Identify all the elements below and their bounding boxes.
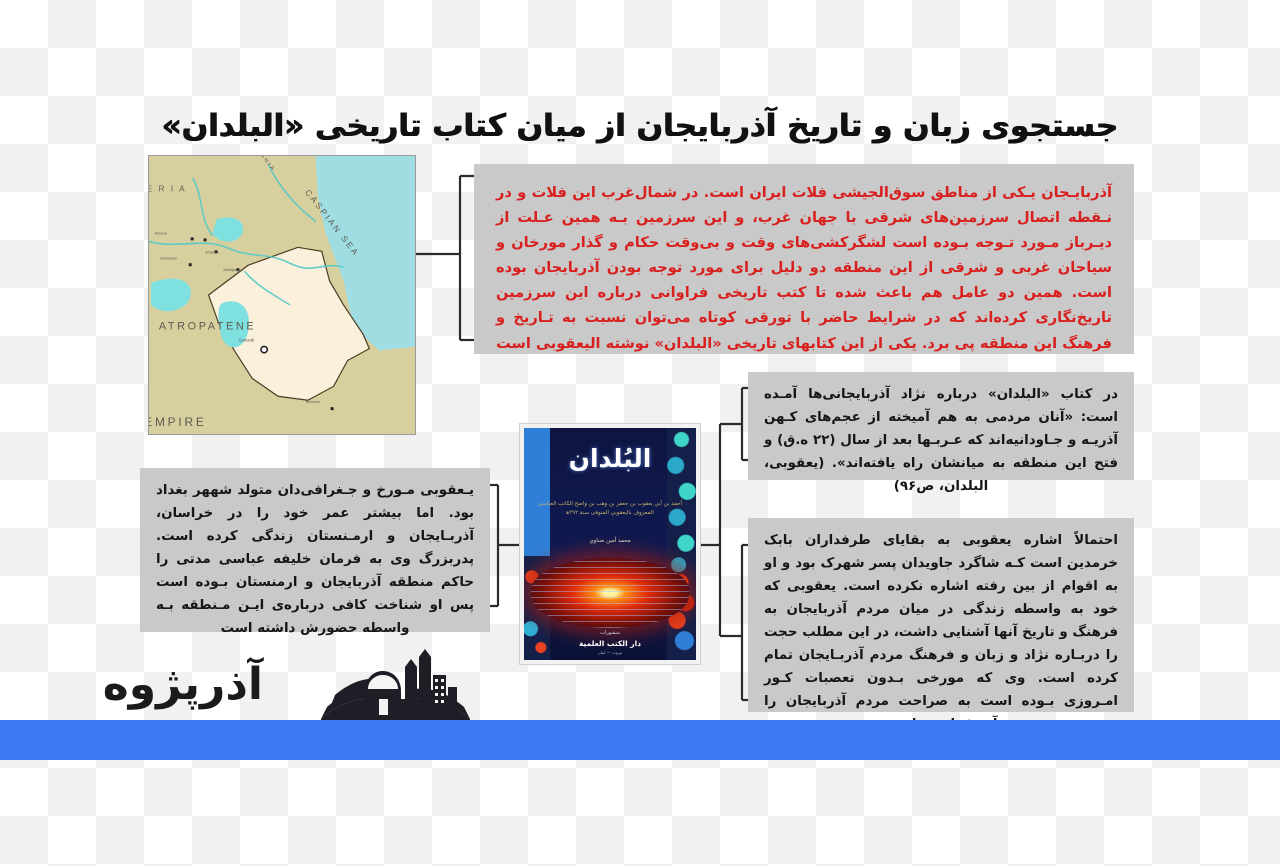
map-label-artaxata: Artaxata: [205, 250, 218, 254]
book-publisher-sub: بيروت — لبنان: [534, 650, 685, 655]
city-dot-behistun: [331, 407, 334, 410]
intro-paragraph-text: آذربایـجان یـکی از مناطق سوق‌الجیشی فلات…: [496, 184, 1112, 352]
map-label-zarehavan: Zarehavan: [160, 256, 177, 260]
bottom-accent-bar: [0, 720, 1280, 760]
buldan-quote-text: در کتاب «البلدان» درباره نژاد آذربایجانی…: [764, 387, 1118, 494]
book-editor-line: محمد أمين ضناوي: [534, 537, 685, 546]
city-dot-ganzak: [261, 346, 267, 352]
book-globe-grid: [531, 558, 689, 628]
intro-paragraph-card: آذربایـجان یـکی از مناطق سوق‌الجیشی فلات…: [474, 164, 1134, 354]
lake-sevan: [213, 218, 244, 242]
city-dot-armavir: [191, 237, 194, 240]
yaqubi-analysis-text: احتمالاً اشاره یعقوبی به بقایای طرفداران…: [764, 533, 1118, 732]
book-author-line: أحمد بن أبي يعقوب بن جعفر بن وهب بن واضح…: [534, 500, 685, 519]
map-label-atropatene: ATROPATENE: [159, 321, 256, 333]
book-title: البُلدان: [524, 444, 696, 473]
map-label-seleucid-empire: SELEUCID EMPIRE: [149, 415, 207, 429]
book-publisher: دار الكتب العلمية: [534, 637, 685, 651]
yaqubi-analysis-card: احتمالاً اشاره یعقوبی به بقایای طرفداران…: [748, 518, 1134, 712]
map-label-ganzak: Ganzak: [239, 338, 255, 343]
page-title: جستجوی زبان و تاریخ آذربایجان از میان کت…: [0, 107, 1280, 146]
buldan-quote-card: در کتاب «البلدان» درباره نژاد آذربایجانی…: [748, 372, 1134, 480]
book-imprint-line: منشورات: [534, 629, 685, 637]
map-label-nakhjavan: Nakhjavan: [223, 268, 240, 272]
al-buldan-book-cover: البُلدان أحمد بن أبي يعقوب بن جعفر بن وه…: [520, 424, 700, 664]
atropatene-map: I B E R I A CAUCASIAN ALBANIA CASPIAN SE…: [148, 155, 416, 435]
azarpajooh-logo-text: آذرپژوه: [103, 659, 263, 710]
yaqubi-biography-text: یـعقوبی مـورخ و جـغرافی‌دان متولد شههر ب…: [156, 483, 474, 636]
book-globe-graphic: [531, 558, 689, 628]
yaqubi-biography-card: یـعقوبی مـورخ و جـغرافی‌دان متولد شههر ب…: [140, 468, 490, 632]
map-label-behistun: Behistun: [306, 400, 320, 404]
book-footer: منشورات دار الكتب العلمية بيروت — لبنان: [534, 629, 685, 656]
city-dot-zarehavan: [189, 263, 192, 266]
map-label-armavir: Armavir: [155, 231, 168, 235]
map-illustration: I B E R I A CAUCASIAN ALBANIA CASPIAN SE…: [149, 156, 415, 434]
map-label-iberia: I B E R I A: [149, 185, 187, 194]
